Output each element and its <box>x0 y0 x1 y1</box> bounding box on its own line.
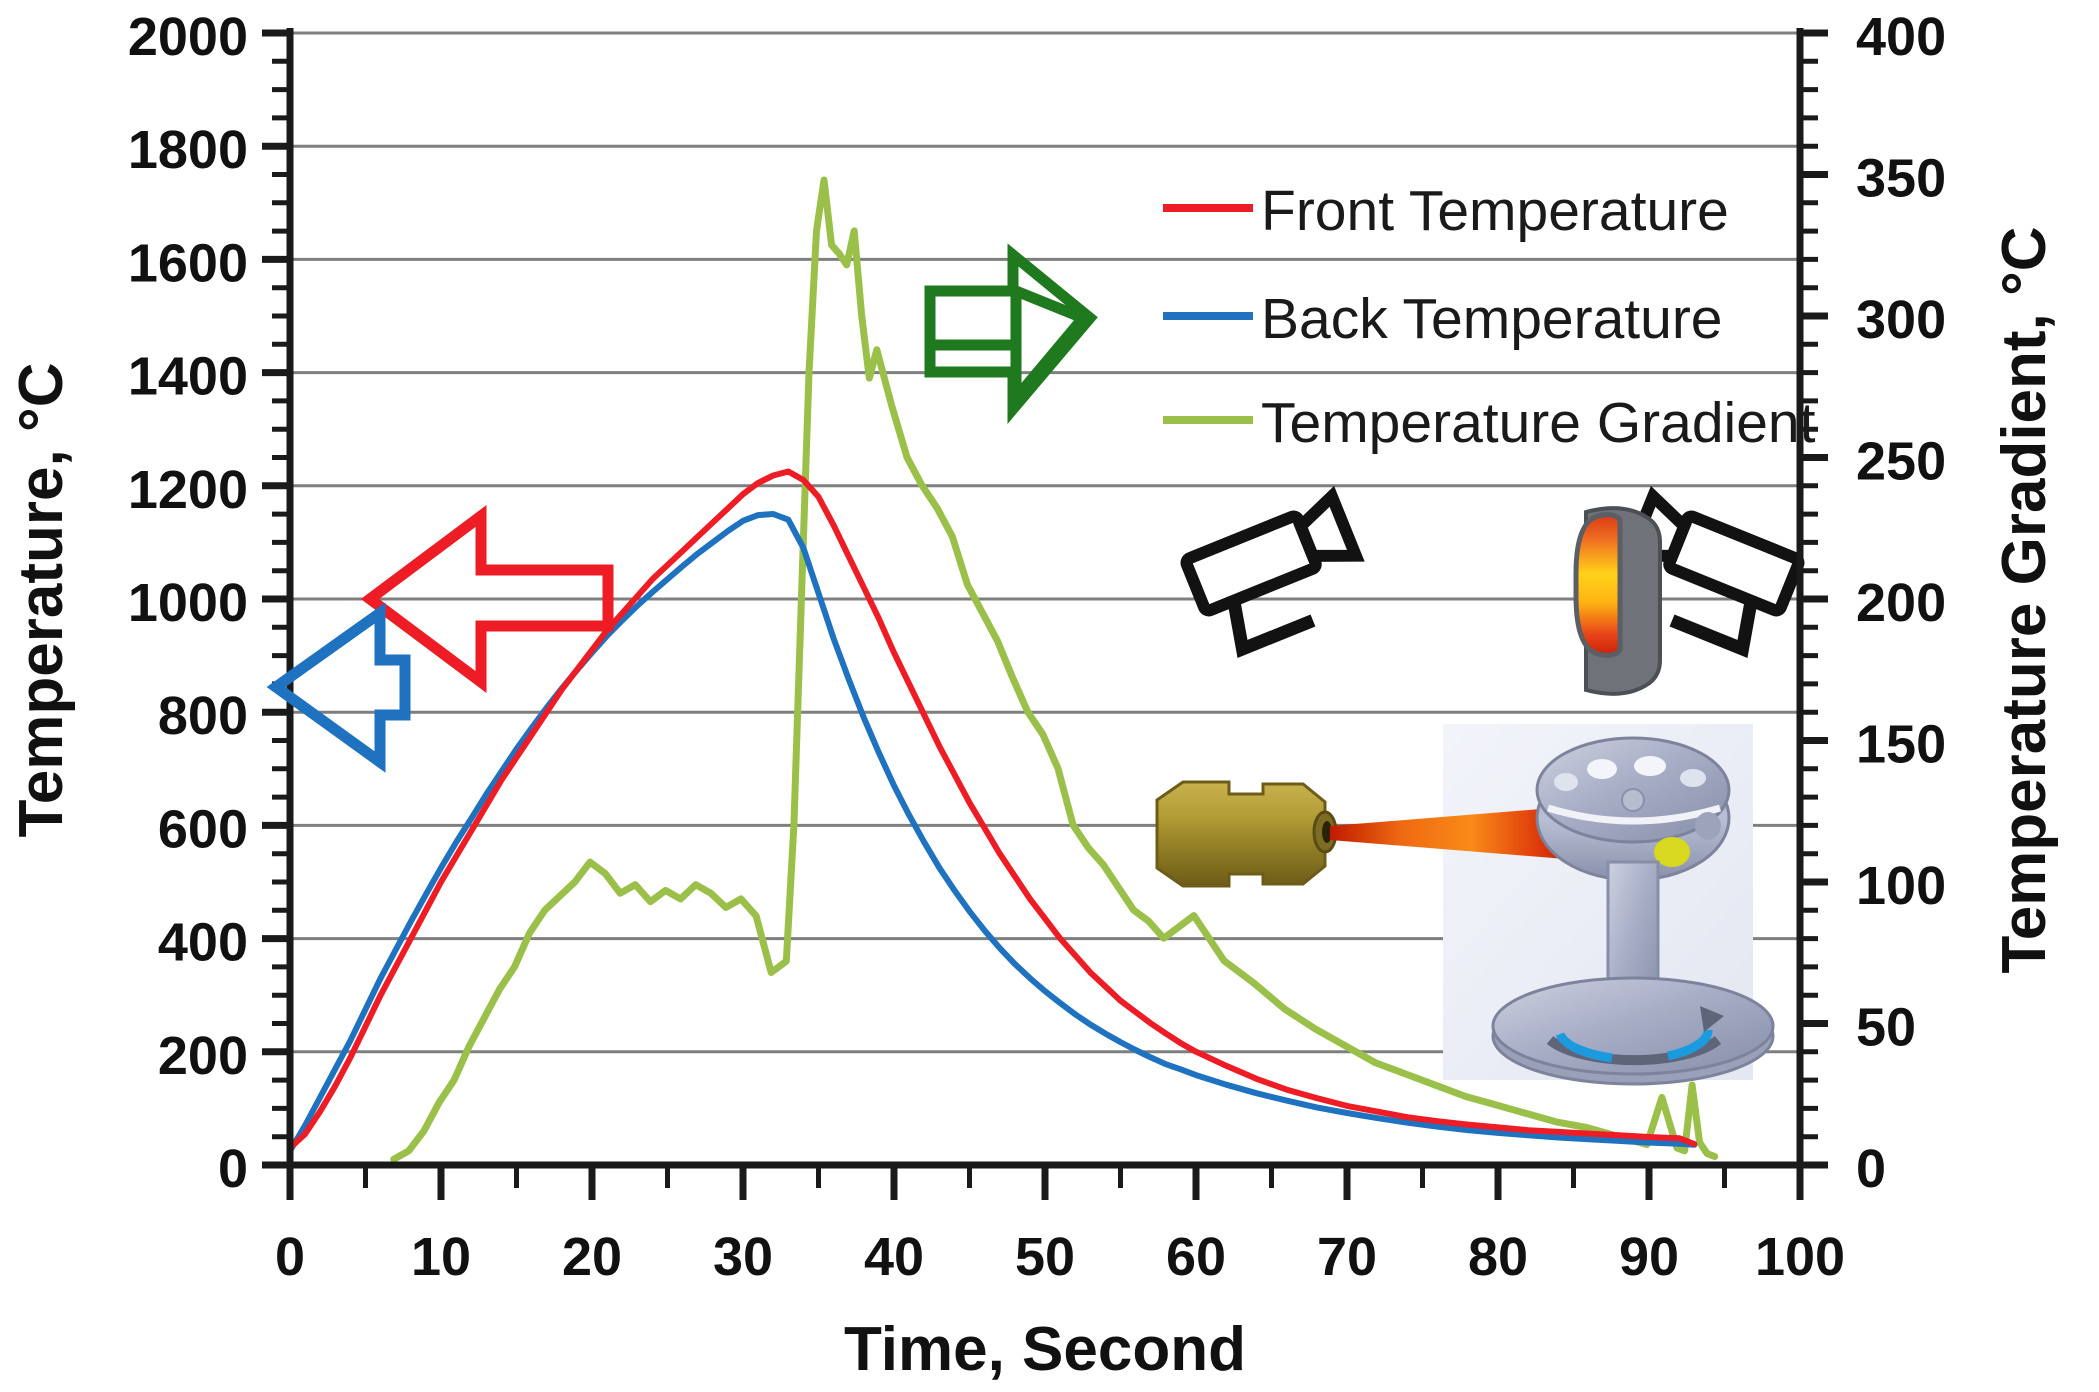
y-left-tick-label: 200 <box>158 1026 248 1086</box>
inset-illustration <box>1157 496 1801 1084</box>
y-left-tick-labels: 2000 1800 1600 1400 1200 1000 800 600 40… <box>128 7 248 1199</box>
arrow-gradient-right-icon <box>930 255 1090 409</box>
y-left-tick-label: 1600 <box>128 233 248 293</box>
x-tick-label: 100 <box>1755 1227 1845 1287</box>
x-tick-label: 90 <box>1619 1227 1679 1287</box>
y-left-tick-label: 800 <box>158 686 248 746</box>
x-tick-label: 70 <box>1317 1227 1377 1287</box>
y-left-tick-label: 1400 <box>128 347 248 407</box>
y-left-tick-label: 1800 <box>128 120 248 180</box>
x-tick-labels: 0 10 20 30 40 50 60 70 80 90 100 <box>275 1227 1845 1287</box>
legend-item-temperature-gradient: Temperature Gradient <box>1163 391 1816 455</box>
y-right-tick-label: 0 <box>1856 1139 1886 1199</box>
y-left-tick-label: 600 <box>158 799 248 859</box>
y-left-axis-title: Temperature, °C <box>7 363 76 838</box>
chart-svg: 2000 1800 1600 1400 1200 1000 800 600 40… <box>0 0 2099 1392</box>
x-tick-label: 30 <box>713 1227 773 1287</box>
x-tick-label: 20 <box>562 1227 622 1287</box>
y-right-tick-label: 100 <box>1856 856 1946 916</box>
camera-icon <box>1184 496 1373 656</box>
chart-figure: 2000 1800 1600 1400 1200 1000 800 600 40… <box>0 0 2099 1392</box>
x-tick-label: 0 <box>275 1227 305 1287</box>
hot-disc-sample <box>1576 508 1660 694</box>
x-tick-label: 50 <box>1015 1227 1075 1287</box>
legend-label-front: Front Temperature <box>1261 179 1729 243</box>
y-left-tick-label: 1200 <box>128 460 248 520</box>
x-axis-title: Time, Second <box>844 1315 1246 1384</box>
x-tick-label: 60 <box>1166 1227 1226 1287</box>
y-right-tick-label: 150 <box>1856 715 1946 775</box>
x-tick-label: 40 <box>864 1227 924 1287</box>
legend-label-gradient: Temperature Gradient <box>1261 391 1816 455</box>
y-left-tick-label: 400 <box>158 913 248 973</box>
x-tick-label: 80 <box>1468 1227 1528 1287</box>
y-left-tick-label: 2000 <box>128 7 248 67</box>
legend: Front Temperature Back Temperature Tempe… <box>1163 179 1816 455</box>
y-right-tick-label: 200 <box>1856 573 1946 633</box>
x-axis-ticks <box>290 1165 1800 1200</box>
x-tick-label: 10 <box>411 1227 471 1287</box>
y-right-tick-label: 50 <box>1856 998 1916 1058</box>
legend-item-back-temperature: Back Temperature <box>1163 287 1723 351</box>
y-left-tick-label: 0 <box>218 1139 248 1199</box>
y-left-tick-label: 1000 <box>128 573 248 633</box>
legend-label-back: Back Temperature <box>1261 287 1723 351</box>
legend-item-front-temperature: Front Temperature <box>1163 179 1729 243</box>
y-right-tick-label: 350 <box>1856 149 1946 209</box>
y-right-tick-labels: 400 350 300 250 200 150 100 50 0 <box>1856 7 1946 1199</box>
y-right-tick-label: 250 <box>1856 432 1946 492</box>
arrow-back-left-icon <box>276 613 405 762</box>
y-right-tick-label: 400 <box>1856 7 1946 67</box>
burner-nozzle-icon <box>1157 782 1336 886</box>
y-right-tick-label: 300 <box>1856 290 1946 350</box>
y-right-axis-title: Temperature Gradient, °C <box>1990 226 2059 973</box>
